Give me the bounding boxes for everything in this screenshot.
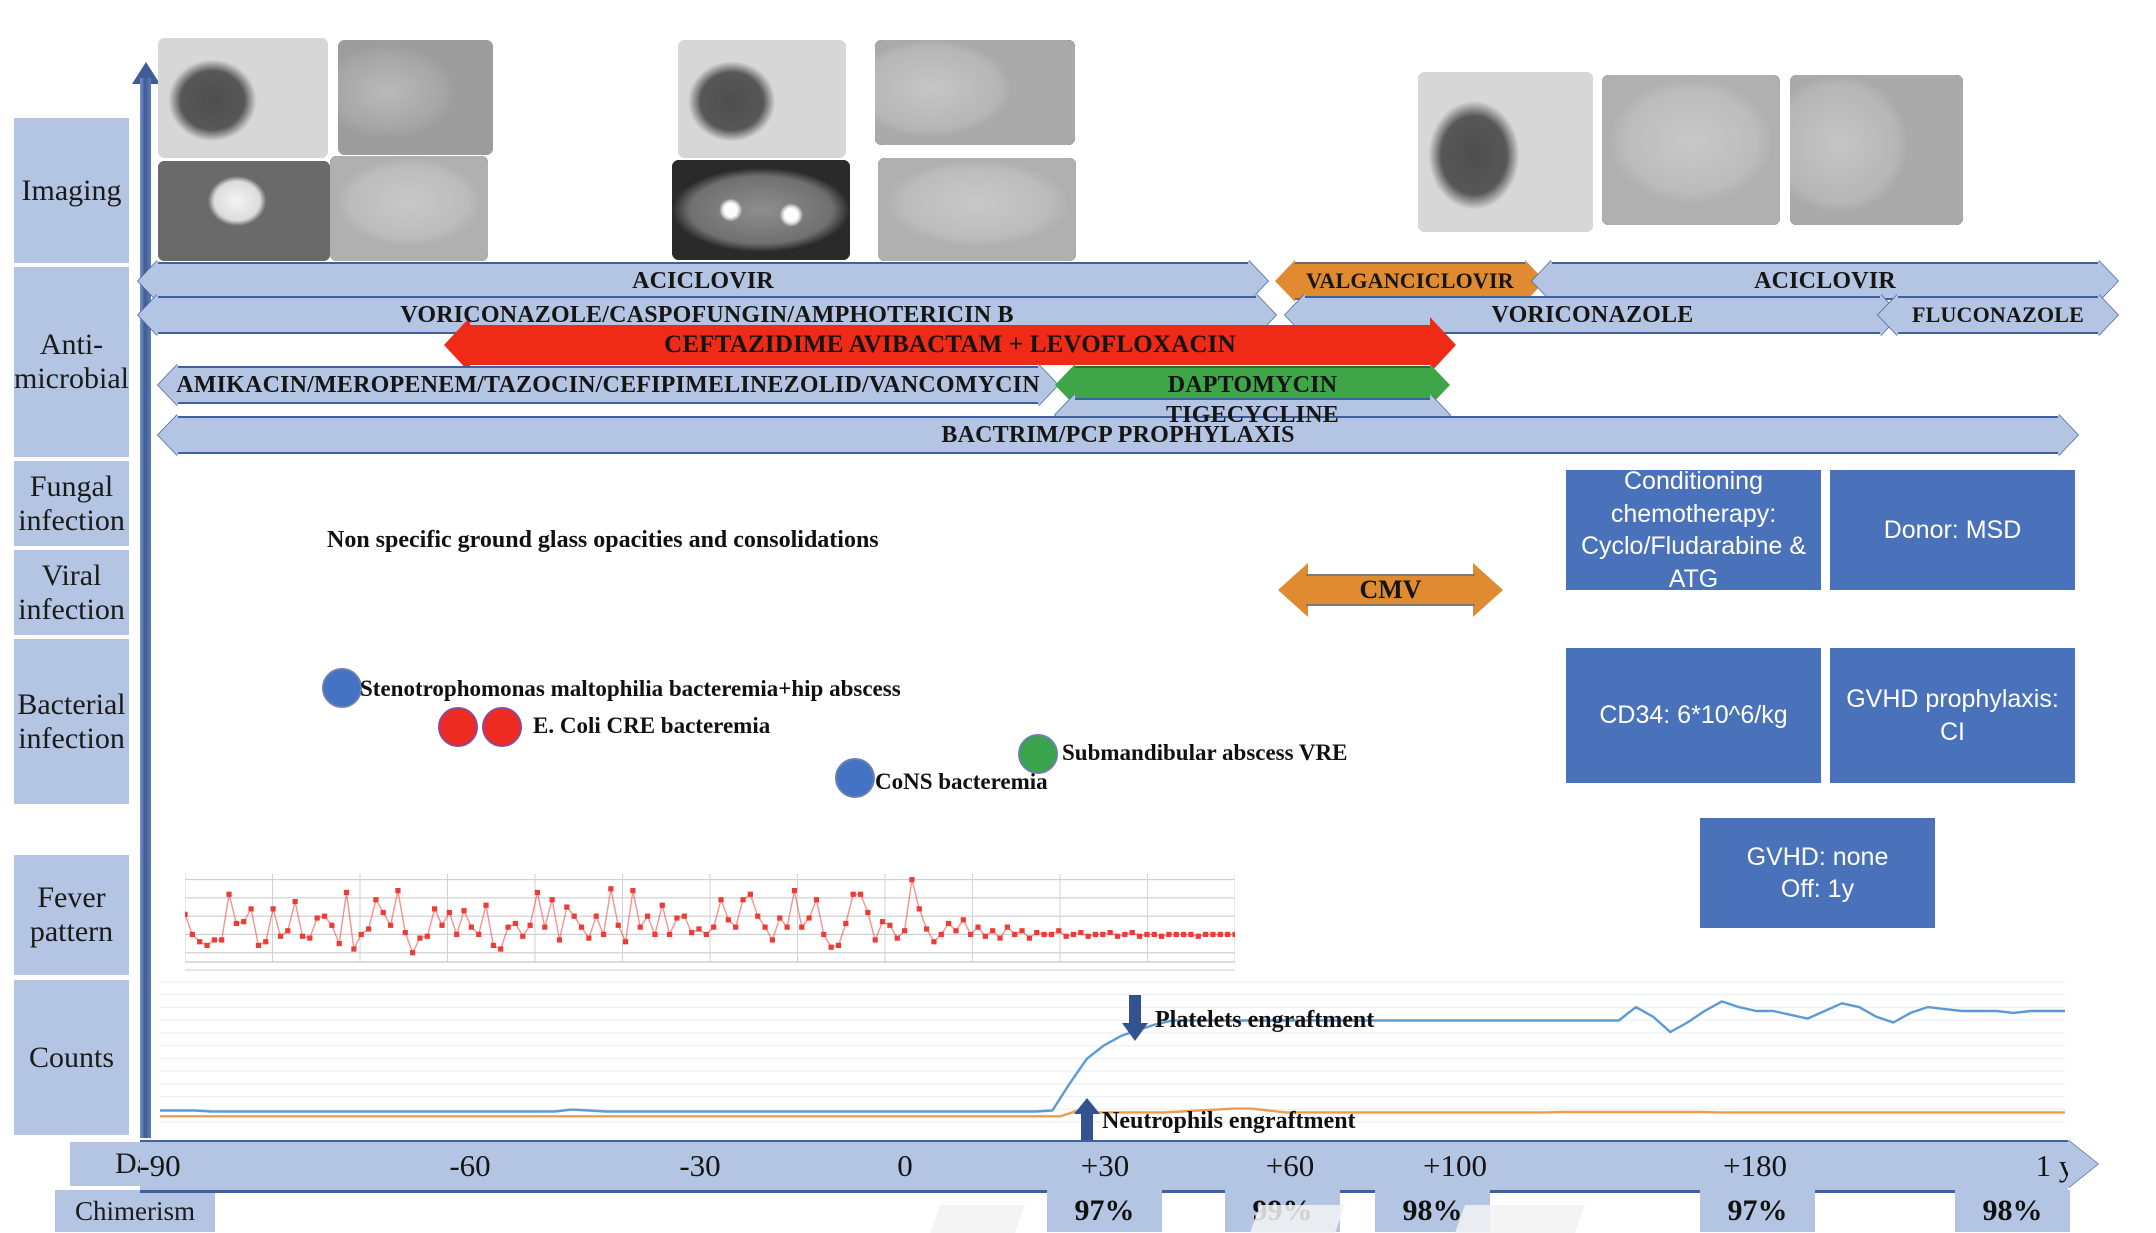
row-label-imaging: Imaging bbox=[14, 118, 129, 263]
chimerism-d30: 97% bbox=[1047, 1190, 1162, 1232]
day-axis-tick-180: +180 bbox=[1723, 1148, 1787, 1184]
day-axis-tick-90: -90 bbox=[139, 1148, 180, 1184]
day-axis-tick-30: +30 bbox=[1081, 1148, 1129, 1184]
day-axis-arrowhead bbox=[2068, 1140, 2098, 1188]
ct-thumbnail-chest-1 bbox=[158, 38, 328, 158]
bacterial-event-dot-ecoli-cre bbox=[438, 707, 478, 747]
counts-chart-svg bbox=[160, 978, 2065, 1128]
ct-thumbnail-liver-1 bbox=[330, 156, 488, 261]
row-label-text: Anti- bbox=[40, 328, 103, 362]
antimicrobial-bar-label: VALGANCICLOVIR bbox=[1306, 268, 1514, 294]
cmv-arrow-right-head bbox=[1473, 563, 1503, 617]
ct-thumbnail-chest-2 bbox=[678, 40, 846, 158]
antimicrobial-bar-amikacin-meropenem-tazocin-cefipime-linezolid-vancomycin: AMIKACIN/MEROPENEM/TAZOCIN/CEFIPIMELINEZ… bbox=[178, 366, 1038, 404]
info-box-label: Conditioning chemotherapy: Cyclo/Fludara… bbox=[1576, 465, 1811, 595]
antimicrobial-bar-fluconazole: FLUCONAZOLE bbox=[1898, 296, 2098, 334]
info-box-label: GVHD prophylaxis: CI bbox=[1840, 683, 2065, 748]
arrow-right-head-icon bbox=[2098, 294, 2118, 336]
chimerism-1y: 98% bbox=[1955, 1190, 2070, 1232]
watermark-strip-3 bbox=[1455, 1205, 1585, 1233]
info-box-conditioning-chemotherapy: Conditioning chemotherapy: Cyclo/Fludara… bbox=[1566, 470, 1821, 590]
bacterial-event-label-cons-bacteremia: CoNS bacteremia bbox=[875, 769, 1048, 795]
ct-thumbnail-abdomen-3 bbox=[1790, 75, 1963, 225]
row-label-antimicrobial: Anti- microbial bbox=[14, 267, 129, 457]
info-box-label: GVHD: none Off: 1y bbox=[1747, 841, 1889, 906]
watermark-strip-1 bbox=[930, 1205, 1025, 1233]
info-box-cd34-dose: CD34: 6*10^6/kg bbox=[1566, 648, 1821, 783]
arrow-left-head-icon bbox=[1878, 294, 1898, 336]
arrow-left-head-icon bbox=[138, 294, 158, 336]
day-axis-tick-60: -60 bbox=[449, 1148, 490, 1184]
info-box-gvhd-prophylaxis: GVHD prophylaxis: CI bbox=[1830, 648, 2075, 783]
day-axis-ticks: -90-60-300+30+60+100+1801 y bbox=[140, 1142, 2068, 1190]
antimicrobial-bar-aciclovir-early: ACICLOVIR bbox=[158, 262, 1248, 300]
info-box-gvhd-status: GVHD: none Off: 1y bbox=[1700, 818, 1935, 928]
ct-thumbnail-pelvis-2 bbox=[672, 160, 850, 260]
arrow-left-head-icon bbox=[158, 364, 178, 406]
row-label-text-2: microbial bbox=[14, 362, 129, 396]
antimicrobial-bar-label: VORICONAZOLE bbox=[1492, 302, 1694, 329]
chimerism-value: 98% bbox=[1983, 1194, 2043, 1228]
neutrophils-engraftment-arrow bbox=[1072, 1098, 1102, 1142]
mri-thumbnail-hip-1 bbox=[158, 161, 330, 261]
antimicrobial-bar-label: ACICLOVIR bbox=[1754, 268, 1896, 295]
antimicrobial-bar-label: ACICLOVIR bbox=[632, 268, 774, 295]
antimicrobial-bar-label: FLUCONAZOLE bbox=[1912, 302, 2084, 328]
row-label-fever: Feverpattern bbox=[14, 855, 129, 975]
chimerism-value: 98% bbox=[1403, 1194, 1463, 1228]
day-axis-tick-0: 0 bbox=[897, 1148, 913, 1184]
ct-thumbnail-liver-2 bbox=[878, 158, 1076, 261]
cmv-label: CMV bbox=[1359, 575, 1421, 605]
day-axis: -90-60-300+30+60+100+1801 y bbox=[140, 1140, 2068, 1193]
fever-chart: 3637383940 bbox=[185, 868, 1235, 974]
day-axis-tick-60: +60 bbox=[1266, 1148, 1314, 1184]
bacterial-event-dot-stenotrophomonas bbox=[322, 668, 362, 708]
day-axis-tick-30: -30 bbox=[679, 1148, 720, 1184]
fever-chart-svg: 3637383940 bbox=[185, 868, 1235, 974]
ct-thumbnail-abdomen-2 bbox=[875, 40, 1075, 145]
timeline-spine bbox=[140, 78, 151, 1138]
antimicrobial-bar-label: BACTRIM/PCP PROPHYLAXIS bbox=[941, 422, 1294, 449]
neutrophils-engraftment-label: Neutrophils engraftment bbox=[1102, 1108, 1356, 1135]
ct-thumbnail-chest-3 bbox=[1418, 72, 1593, 232]
bacterial-event-label-stenotrophomonas: Stenotrophomonas maltophilia bacteremia+… bbox=[360, 676, 901, 702]
antimicrobial-bar-label: CEFTAZIDIME AVIBACTAM + LEVOFLOXACIN bbox=[664, 331, 1236, 359]
antimicrobial-bar-label: DAPTOMYCIN bbox=[1168, 372, 1338, 399]
chimerism-d180: 97% bbox=[1700, 1190, 1815, 1232]
arrow-left-head-icon bbox=[158, 414, 178, 456]
chimerism-value: 97% bbox=[1728, 1194, 1788, 1228]
bacterial-event-dot-ecoli-cre bbox=[482, 707, 522, 747]
info-box-label: Donor: MSD bbox=[1884, 514, 2022, 547]
row-label-chimerism: Chimerism bbox=[55, 1190, 215, 1232]
info-box-donor: Donor: MSD bbox=[1830, 470, 2075, 590]
platelets-engraftment-label: Platelets engraftment bbox=[1155, 1007, 1374, 1034]
row-label-fungal: Fungalinfection bbox=[14, 461, 129, 546]
bacterial-event-dot-cons-bacteremia bbox=[835, 758, 875, 798]
antimicrobial-bar-label: VORICONAZOLE/CASPOFUNGIN/AMPHOTERICIN B bbox=[400, 302, 1013, 329]
watermark-strip-2 bbox=[1250, 1205, 1345, 1233]
row-label-text: Imaging bbox=[22, 174, 122, 208]
bacterial-event-label-submandibular-abscess-vre: Submandibular abscess VRE bbox=[1062, 740, 1347, 766]
fungal-note: Non specific ground glass opacities and … bbox=[327, 527, 879, 554]
row-label-viral: Viralinfection bbox=[14, 550, 129, 635]
bacterial-event-label-ecoli-cre: E. Coli CRE bacteremia bbox=[533, 713, 770, 739]
antimicrobial-bar-bactrim-pcp-prophylaxis: BACTRIM/PCP PROPHYLAXIS bbox=[178, 416, 2058, 454]
day-axis-tick-100: +100 bbox=[1423, 1148, 1487, 1184]
cmv-arrow: CMV bbox=[1278, 562, 1503, 618]
arrow-right-head-icon bbox=[2058, 414, 2078, 456]
antimicrobial-bar-ceftazidime-avibactam-levofloxacin: CEFTAZIDIME AVIBACTAM + LEVOFLOXACIN bbox=[470, 325, 1430, 365]
ct-thumbnail-abdomen-1 bbox=[338, 40, 493, 155]
antimicrobial-bar-aciclovir-late: ACICLOVIR bbox=[1552, 262, 2098, 300]
cmv-arrow-body: CMV bbox=[1306, 574, 1475, 606]
counts-chart bbox=[160, 978, 2065, 1128]
antimicrobial-bar-label: AMIKACIN/MEROPENEM/TAZOCIN/CEFIPIMELINEZ… bbox=[176, 372, 1040, 399]
antimicrobial-bar-valganciclovir: VALGANCICLOVIR bbox=[1295, 262, 1525, 300]
chimerism-value: 97% bbox=[1075, 1194, 1135, 1228]
ct-thumbnail-liver-3 bbox=[1602, 75, 1780, 225]
platelets-engraftment-arrow bbox=[1120, 995, 1150, 1043]
info-box-label: CD34: 6*10^6/kg bbox=[1599, 699, 1787, 732]
bacterial-event-dot-submandibular-abscess-vre bbox=[1018, 734, 1058, 774]
row-label-bacterial: Bacterialinfection bbox=[14, 639, 129, 804]
cmv-arrow-left-head bbox=[1278, 563, 1308, 617]
row-label-counts: Counts bbox=[14, 980, 129, 1135]
